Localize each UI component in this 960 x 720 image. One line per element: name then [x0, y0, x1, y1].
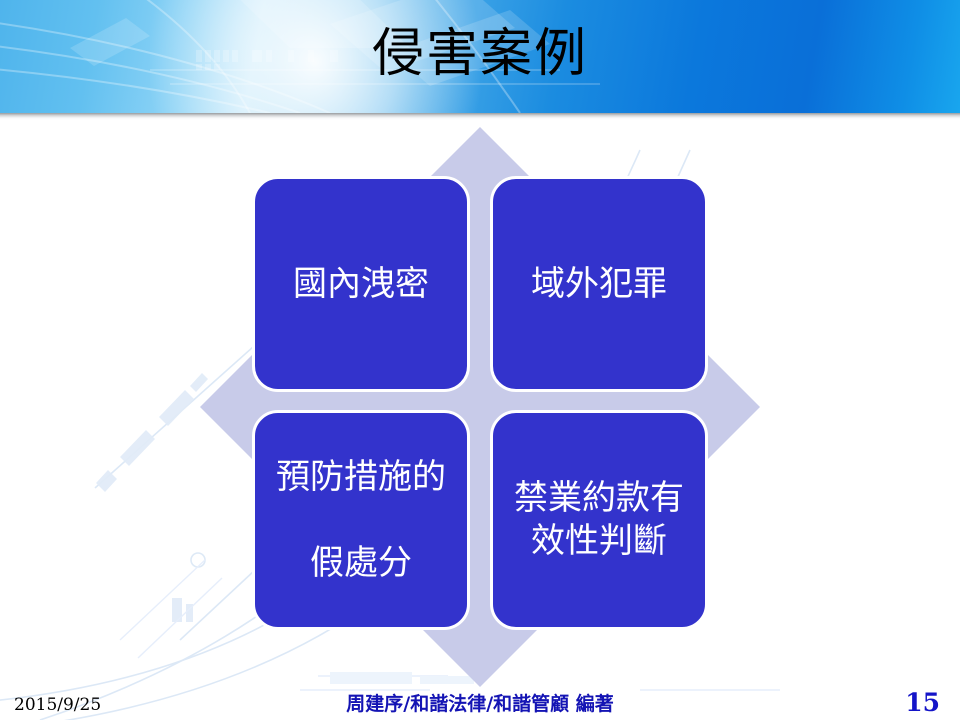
slide-canvas: 侵害案例 國內洩密 域外犯罪 預防措施的 假處分 禁業約款有效性判斷 2015/…	[0, 0, 960, 720]
matrix-diagram: 國內洩密 域外犯罪 預防措施的 假處分 禁業約款有效性判斷	[190, 118, 770, 696]
page-title: 侵害案例	[0, 23, 960, 85]
diagram-node-top-left[interactable]: 國內洩密	[252, 176, 470, 392]
footer-page-number: 15	[905, 688, 940, 718]
diagram-node-bottom-right[interactable]: 禁業約款有效性判斷	[490, 410, 708, 630]
diagram-node-bottom-left-label: 預防措施的 假處分	[263, 456, 459, 585]
diagram-node-top-left-label: 國內洩密	[263, 263, 459, 306]
footer-attribution: 周建序/和諧法律/和諧管顧 編著	[0, 692, 960, 717]
diagram-node-bottom-right-label: 禁業約款有效性判斷	[501, 477, 697, 563]
diagram-node-top-right[interactable]: 域外犯罪	[490, 176, 708, 392]
title-banner: 侵害案例	[0, 0, 960, 113]
diagram-node-top-right-label: 域外犯罪	[501, 263, 697, 306]
diagram-node-bottom-left[interactable]: 預防措施的 假處分	[252, 410, 470, 630]
